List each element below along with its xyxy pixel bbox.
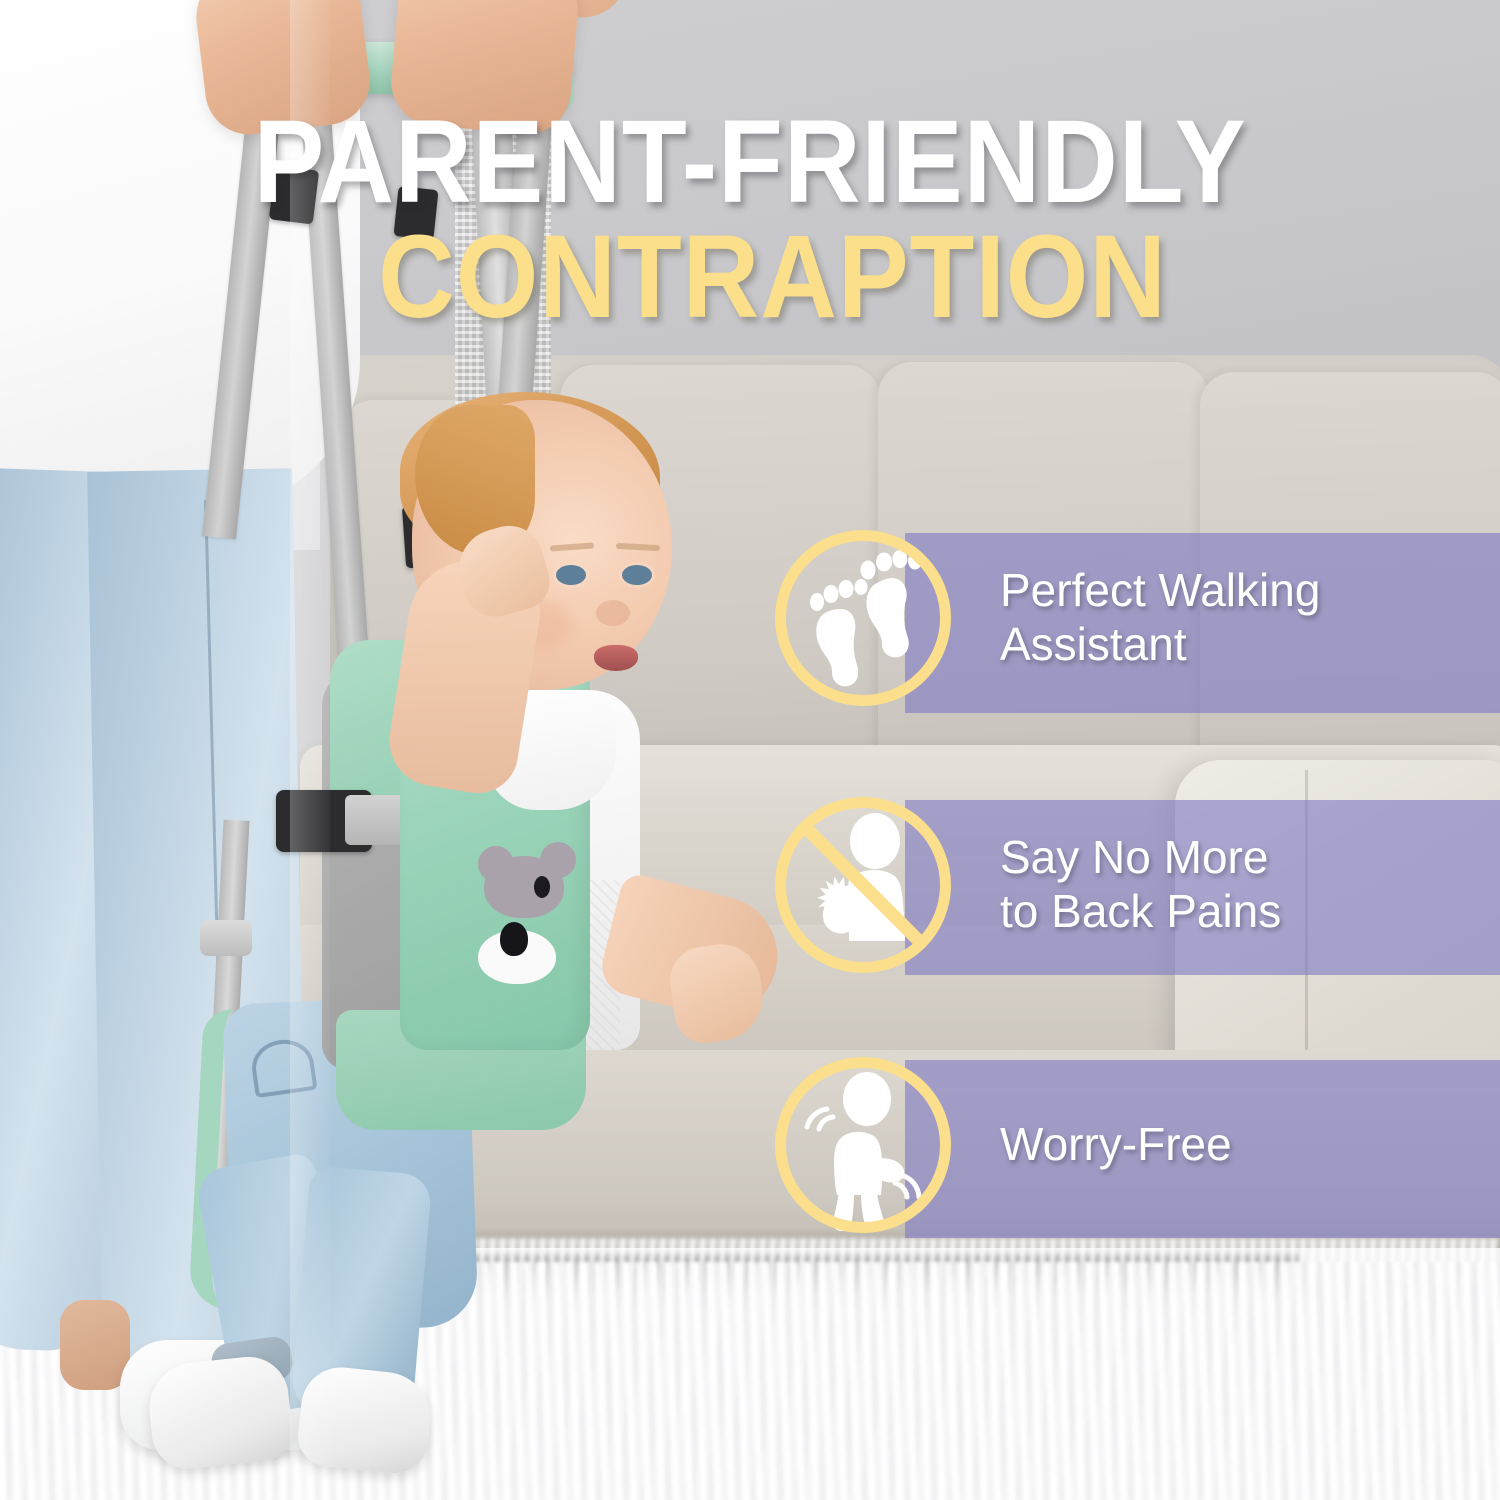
parent-ankle <box>60 1300 130 1390</box>
feature-icon-ring <box>775 797 951 973</box>
parent-hand <box>388 0 583 138</box>
feature-row-walking-assistant: Perfect Walking Assistant <box>0 530 1500 710</box>
strap-buckle <box>393 186 438 240</box>
feature-label: Perfect Walking Assistant <box>1000 530 1320 706</box>
strap-buckle <box>269 166 319 225</box>
feature-row-no-back-pain: Say No More to Back Pains <box>0 797 1500 977</box>
feature-label: Say No More to Back Pains <box>1000 797 1281 973</box>
feature-icon-ring <box>775 530 951 706</box>
feature-icon-ring <box>775 1057 951 1233</box>
baby-shoe <box>145 1353 295 1472</box>
parent-hand <box>190 0 374 139</box>
feature-row-worry-free: Worry-Free <box>0 1057 1500 1237</box>
product-marketing-image: PARENT-FRIENDLY CONTRAPTION Perfect Walk… <box>0 0 1500 1500</box>
feature-label: Worry-Free <box>1000 1057 1232 1233</box>
